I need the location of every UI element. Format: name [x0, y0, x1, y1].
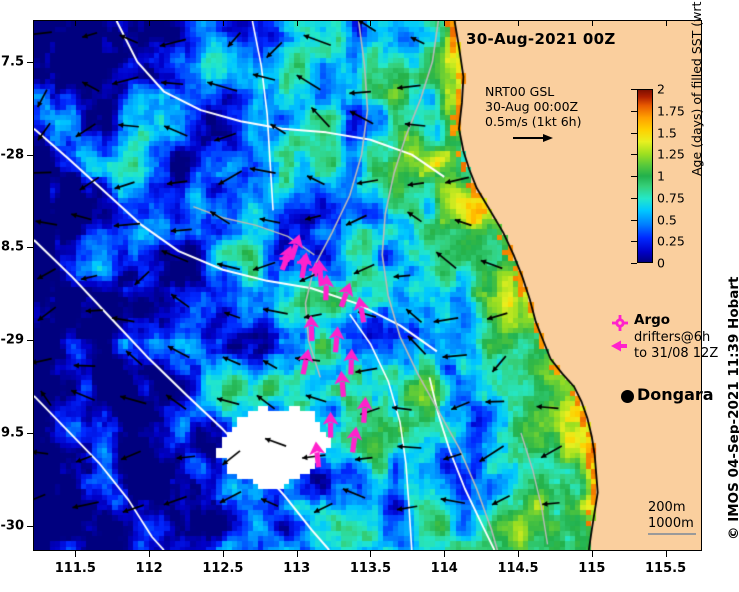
dongara-marker	[621, 390, 634, 403]
colorbar-gradient	[638, 90, 652, 262]
colorbar-tick	[631, 133, 637, 134]
drifter-legend-label: drifters@6h to 31/08 12Z	[634, 330, 718, 362]
colorbar-tick-label: 1.25	[657, 147, 685, 162]
y-tick	[27, 155, 33, 156]
x-tick-label: 115	[578, 561, 605, 576]
x-tick-top	[592, 20, 593, 26]
y-tick-label: -30	[1, 518, 25, 533]
colorbar-tick	[631, 89, 637, 90]
model-annotation-line3: 0.5m/s (1kt 6h)	[485, 114, 581, 129]
colorbar-tick	[631, 111, 637, 112]
x-tick-top	[370, 20, 371, 26]
x-tick	[370, 551, 371, 557]
colorbar-tick-label: 0.75	[657, 190, 685, 205]
colorbar-tick	[631, 220, 637, 221]
x-tick-top	[149, 20, 150, 26]
x-tick-label: 112.5	[202, 561, 243, 576]
depth-contour-key: 200m 1000m	[648, 500, 694, 532]
x-tick	[223, 551, 224, 557]
x-tick-label: 113.5	[350, 561, 391, 576]
colorbar-tick-label: 0	[657, 256, 665, 271]
map-overlay-layer	[34, 21, 701, 550]
x-tick-label: 114.5	[497, 561, 538, 576]
model-annotation-line2: 30-Aug 00:00Z	[485, 99, 581, 114]
y-tick	[27, 62, 33, 63]
x-tick-top	[297, 20, 298, 26]
colorbar-tick	[631, 198, 637, 199]
x-tick	[444, 551, 445, 557]
argo-float-icon	[612, 315, 628, 331]
x-tick-label: 114	[431, 561, 458, 576]
y-tick	[27, 340, 33, 341]
x-tick-label: 113	[283, 561, 310, 576]
x-tick	[518, 551, 519, 557]
x-tick-top	[444, 20, 445, 26]
colorbar-tick-label: 1.75	[657, 103, 685, 118]
colorbar-tick-label: 1	[657, 169, 665, 184]
x-tick	[75, 551, 76, 557]
colorbar-tick	[631, 154, 637, 155]
y-tick-label: -29	[1, 333, 25, 348]
map-plot-area[interactable]	[33, 20, 702, 551]
colorbar	[637, 89, 653, 263]
x-tick	[149, 551, 150, 557]
model-annotation-line1: NRT00 GSL	[485, 84, 581, 99]
drifter-legend-line2: to 31/08 12Z	[634, 346, 718, 362]
x-tick	[666, 551, 667, 557]
y-tick	[27, 433, 33, 434]
x-tick-label: 111.5	[55, 561, 96, 576]
depth-key-200m: 200m	[648, 500, 694, 516]
reference-vector-arrow-icon	[512, 131, 554, 145]
y-tick-label: -27.5	[0, 54, 24, 69]
colorbar-tick-label: 2	[657, 82, 665, 97]
colorbar-title: Age (days) of filled SST (wrt latest)	[689, 0, 704, 176]
imos-sst-age-map: 30-Aug-2021 00Z NRT00 GSL 30-Aug 00:00Z …	[0, 0, 739, 592]
y-tick-label: -29.5	[0, 426, 24, 441]
colorbar-tick	[631, 241, 637, 242]
y-tick-label: -28	[1, 147, 25, 162]
x-tick-top	[518, 20, 519, 26]
colorbar-tick-label: 0.25	[657, 234, 685, 249]
colorbar-tick	[631, 176, 637, 177]
drifter-track-icon	[610, 339, 628, 353]
copyright-credit: © IMOS 04-Sep-2021 11:39 Hobart	[726, 277, 739, 541]
x-tick	[297, 551, 298, 557]
x-tick-label: 115.5	[645, 561, 686, 576]
colorbar-tick	[631, 263, 637, 264]
depth-key-rule	[648, 533, 696, 535]
x-tick	[592, 551, 593, 557]
dongara-label: Dongara	[637, 385, 714, 404]
x-tick-top	[223, 20, 224, 26]
x-tick-top	[666, 20, 667, 26]
model-annotation: NRT00 GSL 30-Aug 00:00Z 0.5m/s (1kt 6h)	[485, 84, 581, 129]
y-tick-label: -28.5	[0, 240, 24, 255]
y-tick	[27, 526, 33, 527]
x-tick-label: 112	[136, 561, 163, 576]
drifter-legend-line1: drifters@6h	[634, 330, 718, 346]
argo-legend-label: Argo	[634, 312, 670, 328]
date-title: 30-Aug-2021 00Z	[466, 30, 616, 48]
colorbar-tick-label: 1.5	[657, 125, 677, 140]
x-tick-top	[75, 20, 76, 26]
depth-key-1000m: 1000m	[648, 516, 694, 532]
y-tick	[27, 247, 33, 248]
colorbar-tick-label: 0.5	[657, 212, 677, 227]
